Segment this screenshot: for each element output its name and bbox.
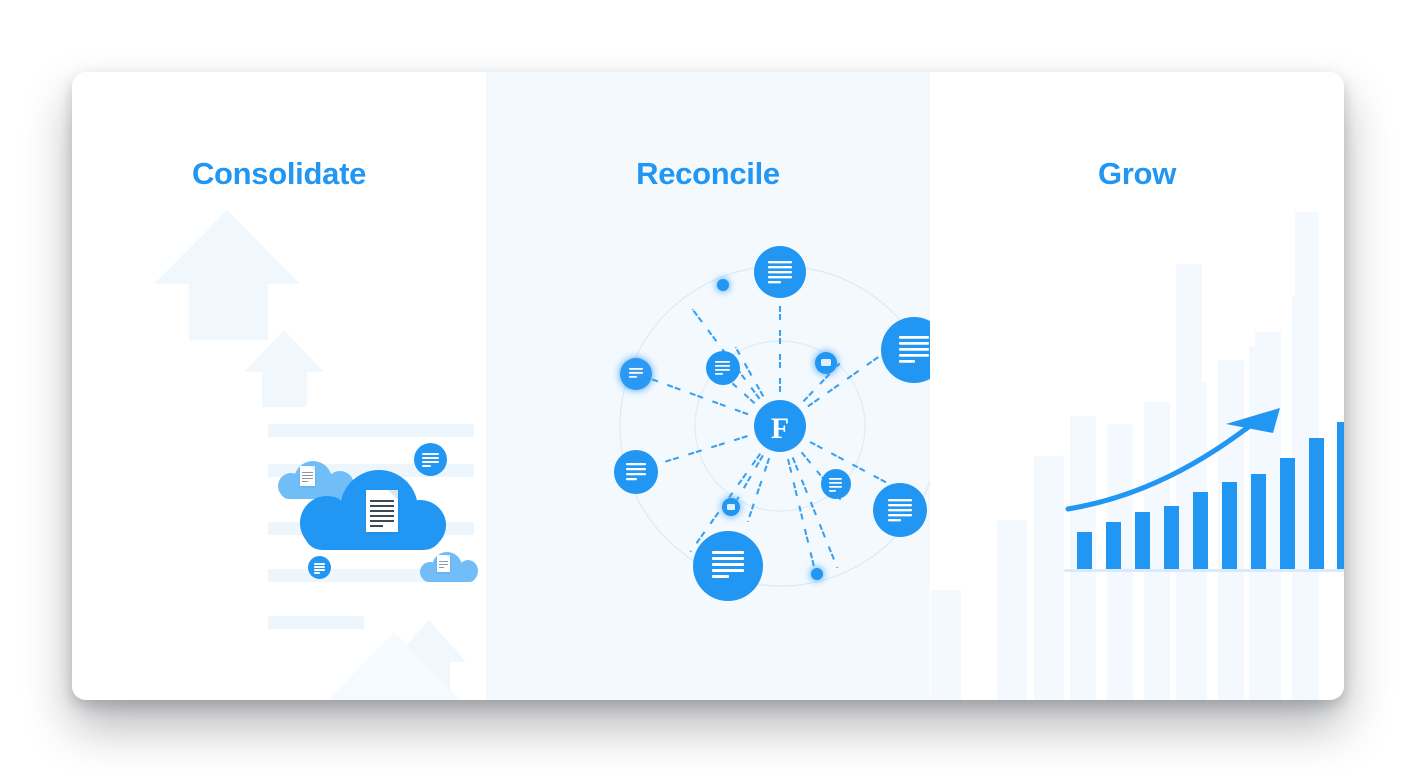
network-node-inner-lowerleft	[722, 498, 740, 516]
panel-reconcile: F Reconcile	[486, 72, 930, 700]
arrow-up-xlarge-icon	[304, 632, 484, 700]
placeholder-bar-5	[268, 616, 364, 629]
network-node-right-lower	[873, 483, 927, 537]
panel-title-grow: Grow	[930, 156, 1344, 192]
network-node-left-upper	[620, 358, 652, 390]
document-mini-2-icon	[437, 555, 450, 572]
panel-consolidate: Consolidate	[72, 72, 486, 700]
document-main-icon	[366, 490, 398, 532]
network-hub: F	[754, 400, 806, 452]
network-node-top	[754, 246, 806, 298]
network-node-inner-upperleft	[706, 351, 740, 385]
arrow-up-medium-icon	[244, 330, 324, 407]
feature-card: Consolidate	[72, 72, 1344, 700]
arrow-up-large-icon	[154, 210, 300, 340]
network-dot-topleft	[717, 279, 729, 291]
network-node-inner-upperright	[815, 352, 837, 374]
network-node-right-upper	[881, 317, 930, 383]
network-dot-bottomright	[811, 568, 823, 580]
document-circle-bottom-icon	[308, 556, 331, 579]
panel-title-reconcile: Reconcile	[486, 156, 930, 192]
network-hub-label: F	[771, 412, 789, 445]
network-node-inner-lowerright	[821, 469, 851, 499]
placeholder-bar-1	[268, 424, 474, 437]
screenshot-stage: Consolidate	[0, 0, 1416, 776]
panel-title-consolidate: Consolidate	[72, 156, 486, 192]
document-circle-top-icon	[414, 443, 447, 476]
network-node-bottom	[693, 531, 763, 601]
panel-grow: Grow	[930, 72, 1344, 700]
network-node-left-lower	[614, 450, 658, 494]
